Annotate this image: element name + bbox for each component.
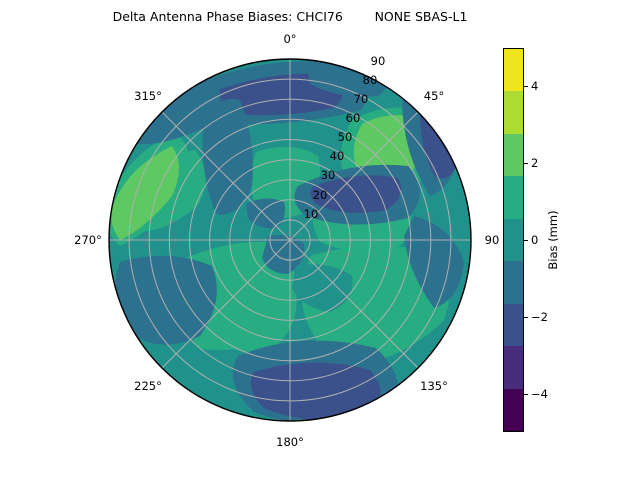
colorbar-band-7 xyxy=(504,91,523,133)
colorbar-band-1 xyxy=(504,346,523,388)
colorbar-band-5 xyxy=(504,176,523,218)
colorbar-band-4 xyxy=(504,219,523,261)
colorbar[interactable] xyxy=(503,48,524,432)
azimuth-label-90: 90 xyxy=(485,233,500,247)
radial-label-30: 30 xyxy=(321,168,336,182)
radial-label-40: 40 xyxy=(330,149,345,163)
colorbar-ticklabel-4: 4 xyxy=(531,79,538,93)
figure-canvas: Delta Antenna Phase Biases: CHCI76 NONE … xyxy=(0,0,640,480)
colorbar-band-3 xyxy=(504,261,523,303)
azimuth-label-315: 315° xyxy=(134,89,162,103)
radial-label-10: 10 xyxy=(304,207,319,221)
colorbar-tick-4 xyxy=(524,86,528,87)
colorbar-ticklabel-m4: −4 xyxy=(531,387,548,401)
polar-grid-spokes xyxy=(109,59,471,421)
colorbar-title: Bias (mm) xyxy=(546,210,560,269)
polar-axes: 0° 45° 90 135° 180° 225° 270° 315° 10 20… xyxy=(0,0,640,480)
colorbar-ticklabel-0: 0 xyxy=(531,233,538,247)
radial-label-80: 80 xyxy=(363,73,378,87)
contour-band-neg1-g xyxy=(115,256,217,345)
radial-label-60: 60 xyxy=(346,111,361,125)
colorbar-ticklabel-2: 2 xyxy=(531,156,538,170)
radial-label-50: 50 xyxy=(338,130,353,144)
colorbar-band-0 xyxy=(504,389,523,431)
colorbar-band-6 xyxy=(504,134,523,176)
radial-label-20: 20 xyxy=(313,188,328,202)
colorbar-tick-0 xyxy=(524,240,528,241)
colorbar-tick-m4 xyxy=(524,394,528,395)
colorbar-ticklabel-m2: −2 xyxy=(531,310,548,324)
azimuth-label-180: 180° xyxy=(276,435,304,449)
azimuth-label-0: 0° xyxy=(283,32,296,46)
azimuth-label-135: 135° xyxy=(420,379,448,393)
azimuth-label-270: 270° xyxy=(74,233,102,247)
colorbar-band-2 xyxy=(504,304,523,346)
azimuth-label-45: 45° xyxy=(424,89,444,103)
colorbar-band-8 xyxy=(504,49,523,91)
colorbar-tick-2 xyxy=(524,163,528,164)
radial-label-70: 70 xyxy=(354,92,369,106)
radial-label-90: 90 xyxy=(371,54,386,68)
colorbar-tick-m2 xyxy=(524,317,528,318)
azimuth-label-225: 225° xyxy=(134,379,162,393)
